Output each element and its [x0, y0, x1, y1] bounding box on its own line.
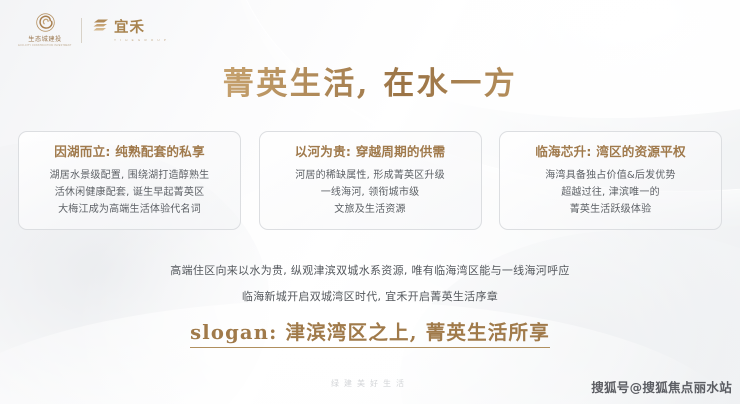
logo-secondary-name-cn: 宜禾 [114, 21, 168, 36]
spiral-logo-icon [36, 13, 55, 32]
logo-secondary-text: 宜禾 Y I H E G R O U P [114, 21, 168, 42]
card-line: 活休闲健康配套, 诞生早起菁英区 [27, 184, 232, 201]
card-line: 河居的稀缺属性, 形成菁英区升级 [268, 167, 473, 184]
slogan-block: slogan: 津滨湾区之上, 菁英生活所享 [0, 320, 740, 348]
logo-primary: 生态城建投 ECO-CITY CONSTRUCTION INVESTMENT [18, 13, 72, 47]
card-line: 湖居水景级配置, 围绕湖打造醇熟生 [27, 167, 232, 184]
card-title: 以河为贵: 穿越周期的供需 [268, 144, 473, 159]
card-line: 菁英生活跃级体验 [508, 201, 713, 218]
summary-paragraph-line-2: 临海新城开启双城湾区时代, 宜禾开启菁英生活序章 [0, 288, 740, 304]
slogan-text: slogan: 津滨湾区之上, 菁英生活所享 [190, 320, 550, 348]
logo-secondary-name-en: Y I H E G R O U P [114, 38, 168, 42]
card-line: 超越过往, 津滨唯一的 [508, 184, 713, 201]
logo-bar: 生态城建投 ECO-CITY CONSTRUCTION INVESTMENT 宜… [18, 13, 168, 47]
feature-card-river: 以河为贵: 穿越周期的供需 河居的稀缺属性, 形成菁英区升级 一线海河, 领衔城… [259, 131, 482, 230]
feature-card-lake: 因湖而立: 纯熟配套的私享 湖居水景级配置, 围绕湖打造醇熟生 活休闲健康配套,… [18, 131, 241, 230]
yihe-mark-icon [93, 18, 114, 42]
card-title: 临海芯升: 湾区的资源平权 [508, 144, 713, 159]
card-line: 文旅及生活资源 [268, 201, 473, 218]
card-line: 大梅江成为高端生活体验代名词 [27, 201, 232, 218]
logo-divider [81, 18, 82, 43]
summary-paragraph-line-1: 高端住区向来以水为贵, 纵观津滨双城水系资源, 唯有临海湾区能与一线海河呼应 [0, 262, 740, 278]
logo-secondary: 宜禾 Y I H E G R O U P [93, 18, 168, 42]
logo-primary-name-cn: 生态城建投 [28, 34, 61, 43]
logo-primary-name-en: ECO-CITY CONSTRUCTION INVESTMENT [18, 44, 71, 47]
card-line: 海湾具备独占价值&后发优势 [508, 167, 713, 184]
feature-card-row: 因湖而立: 纯熟配套的私享 湖居水景级配置, 围绕湖打造醇熟生 活休闲健康配套,… [18, 131, 722, 230]
card-line: 一线海河, 领衔城市级 [268, 184, 473, 201]
card-title: 因湖而立: 纯熟配套的私享 [27, 144, 232, 159]
page-title: 菁英生活, 在水一方 [0, 66, 740, 103]
presentation-slide: 生态城建投 ECO-CITY CONSTRUCTION INVESTMENT 宜… [0, 0, 740, 404]
feature-card-bay: 临海芯升: 湾区的资源平权 海湾具备独占价值&后发优势 超越过往, 津滨唯一的 … [499, 131, 722, 230]
watermark: 搜狐号@搜狐焦点丽水站 [591, 377, 732, 396]
